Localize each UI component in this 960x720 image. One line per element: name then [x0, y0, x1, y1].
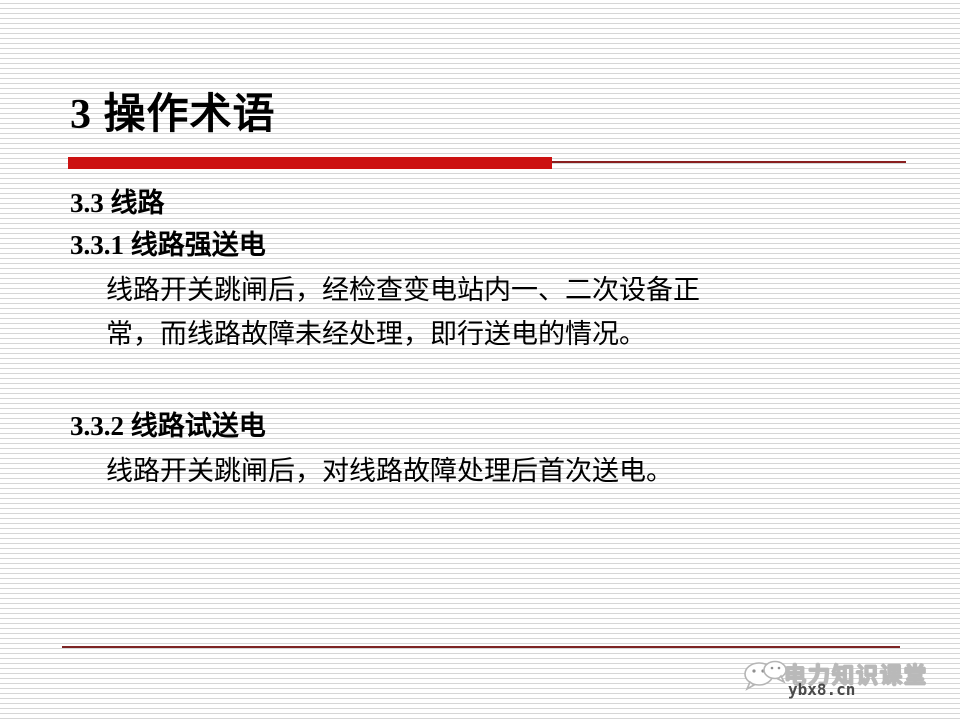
section-3-3-1-line-2: 常，而线路故障未经处理，即行送电的情况。 — [0, 313, 960, 357]
slide-canvas: 3 操作术语 3.3 线路 3.3.1 线路强送电 线路开关跳闸后，经检查变电站… — [0, 0, 960, 720]
watermark: 电力知识课堂 ybx8.cn — [742, 656, 952, 712]
section-3-3-1-line-1: 线路开关跳闸后，经检查变电站内一、二次设备正 — [0, 269, 960, 313]
title-divider — [68, 157, 906, 169]
section-3-3-2-line-1: 线路开关跳闸后，对线路故障处理后首次送电。 — [0, 450, 960, 494]
title-divider-thick-bar — [68, 157, 552, 169]
section-heading-3-3-2: 3.3.2 线路试送电 — [0, 409, 960, 445]
section-heading-3-3-1: 3.3.1 线路强送电 — [0, 228, 960, 264]
slide-body: 3.3 线路 3.3.1 线路强送电 线路开关跳闸后，经检查变电站内一、二次设备… — [0, 186, 960, 494]
wechat-speech-bubble-icon — [742, 658, 788, 694]
paragraph-spacer — [0, 357, 960, 409]
page-title: 3 操作术语 — [70, 92, 276, 138]
section-heading-3-3: 3.3 线路 — [0, 186, 960, 222]
footer-divider — [62, 646, 900, 648]
watermark-url: ybx8.cn — [788, 680, 855, 699]
